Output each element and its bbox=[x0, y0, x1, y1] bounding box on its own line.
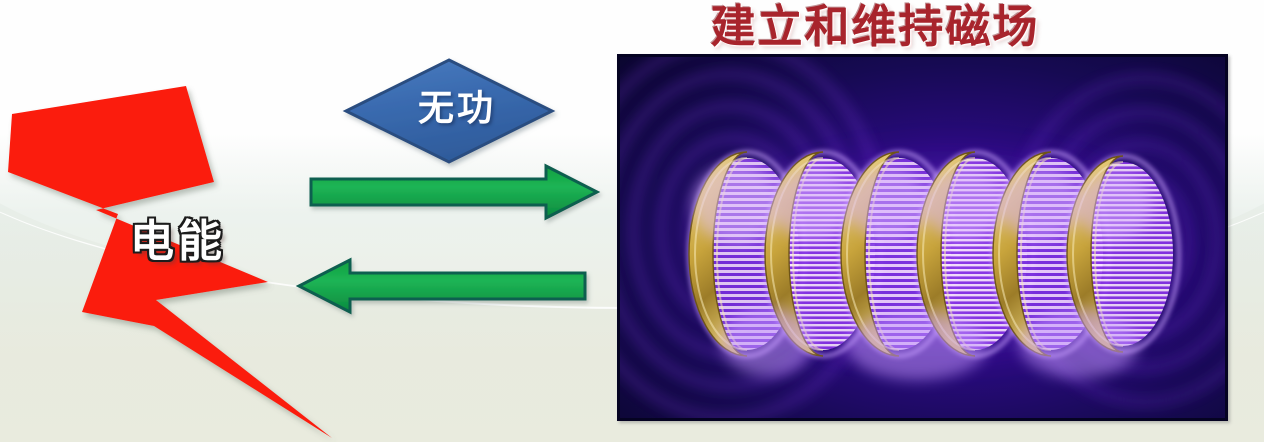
solenoid-coil-magnetic-field-image bbox=[617, 54, 1228, 421]
diamond-shape[interactable]: 无功 bbox=[344, 58, 554, 164]
arrow-left-icon[interactable] bbox=[296, 257, 588, 315]
slide-canvas: 建立和维持磁场 电能 bbox=[0, 0, 1264, 442]
arrow-right-icon[interactable] bbox=[308, 163, 600, 221]
bolt-label: 电能 bbox=[130, 217, 226, 267]
page-title: 建立和维持磁场 bbox=[660, 1, 1090, 53]
